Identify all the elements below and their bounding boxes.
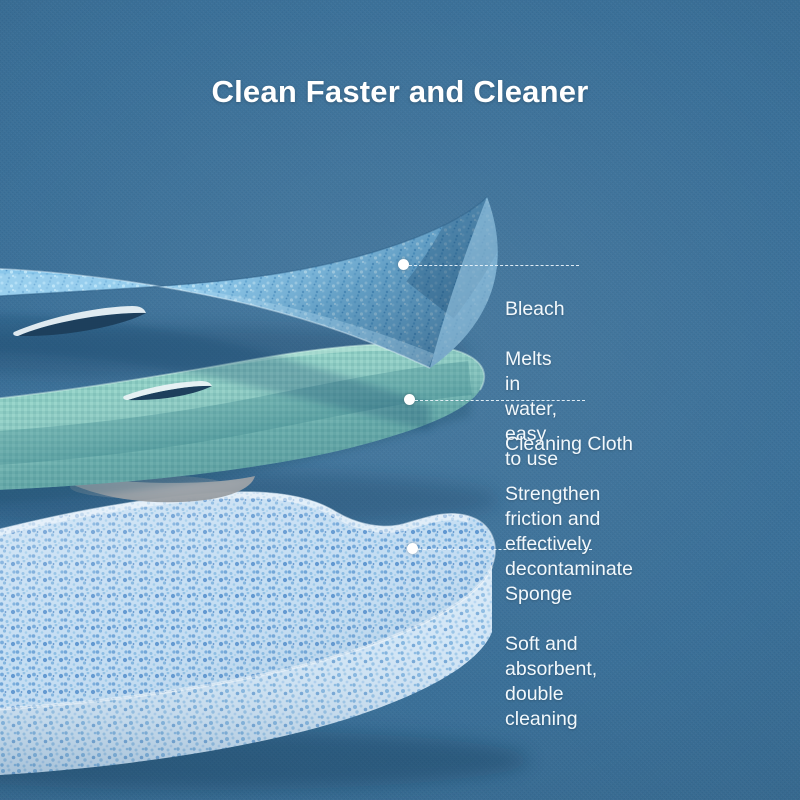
product-exploded-view (0, 0, 800, 800)
callout-text-sponge: Sponge Soft and absorbent, double cleani… (505, 557, 597, 757)
callout-marker-dot-bleach (398, 259, 409, 270)
callout-heading-bleach: Bleach (505, 297, 565, 322)
callout-marker-dot-sponge (407, 543, 418, 554)
callout-heading-sponge: Sponge (505, 582, 597, 607)
callout-description-sponge: Soft and absorbent, double cleaning (505, 632, 597, 732)
callout-marker-dot-cleaning-cloth (404, 394, 415, 405)
callout-leader-line-sponge (418, 549, 592, 550)
callout-heading-cleaning-cloth: Cleaning Cloth (505, 432, 633, 457)
callout-leader-line-cleaning-cloth (415, 400, 585, 401)
product-infographic: Clean Faster and Cleaner (0, 0, 800, 800)
callout-leader-line-bleach (409, 265, 579, 266)
